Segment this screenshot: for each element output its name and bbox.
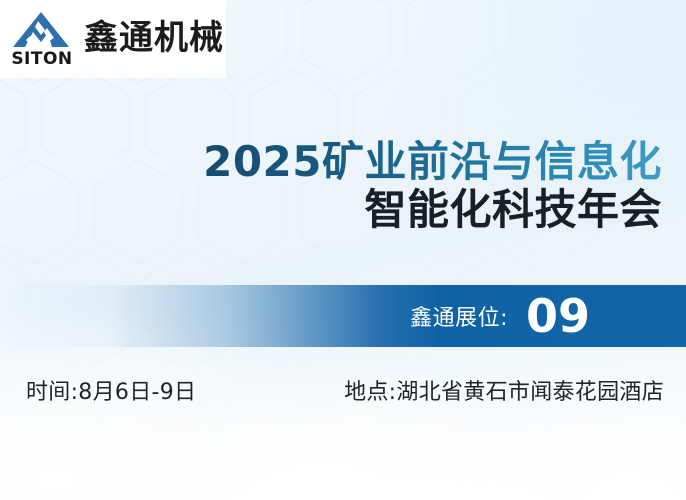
booth-number: 09 bbox=[526, 293, 590, 339]
brand-latin-name: SITON bbox=[11, 51, 72, 68]
mountain-peak-icon: SITON bbox=[6, 8, 78, 70]
event-info-row: 时间:8月6日-9日 地点:湖北省黄石市闻泰花园酒店 bbox=[0, 374, 686, 406]
headline-line-2: 智能化科技年会 bbox=[203, 186, 662, 233]
event-poster: SITON 鑫通机械 2025矿业前沿与信息化 智能化科技年会 鑫通展位: 09… bbox=[0, 0, 686, 500]
event-date: 时间:8月6日-9日 bbox=[26, 374, 196, 406]
brand-chinese-name: 鑫通机械 bbox=[84, 21, 224, 55]
booth-label: 鑫通展位: bbox=[410, 300, 508, 332]
headline-block: 2025矿业前沿与信息化 智能化科技年会 bbox=[203, 140, 662, 233]
headline-line-1: 2025矿业前沿与信息化 bbox=[203, 140, 662, 184]
event-venue: 地点:湖北省黄石市闻泰花园酒店 bbox=[344, 374, 664, 406]
booth-banner: 鑫通展位: 09 bbox=[0, 285, 686, 347]
brand-logo: SITON 鑫通机械 bbox=[0, 0, 226, 78]
